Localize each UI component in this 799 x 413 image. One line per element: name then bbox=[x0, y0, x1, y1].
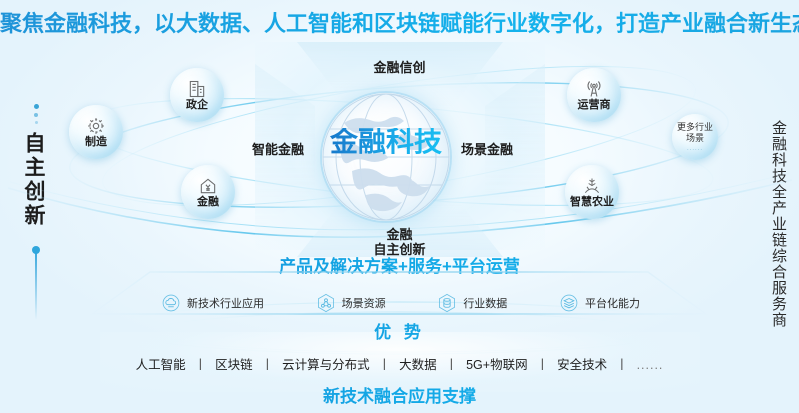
node-more-industry-scenarios[interactable]: 更多行业场景 ...... bbox=[672, 114, 718, 160]
signal-tower-icon bbox=[584, 79, 604, 99]
center-label-top: 金融信创 bbox=[0, 57, 799, 76]
node-label: 智慧农业 bbox=[570, 197, 614, 208]
node-label: 政企 bbox=[186, 100, 208, 111]
node-label: 运营商 bbox=[578, 100, 611, 111]
tech-ellipsis: ...... bbox=[637, 358, 664, 372]
tech-item-bigdata: 大数据 bbox=[399, 358, 437, 372]
capability-row: 新技术行业应用 场景资源 行业数据 bbox=[160, 288, 640, 318]
capability-item-new-tech[interactable]: 新技术行业应用 bbox=[160, 292, 264, 314]
cloud-icon bbox=[160, 292, 182, 314]
page-title: 聚焦金融科技，以大数据、人工智能和区块链赋能行业数字化，打造产业融合新生态 bbox=[0, 6, 799, 38]
infographic-canvas: 聚焦金融科技，以大数据、人工智能和区块链赋能行业数字化，打造产业融合新生态 自主… bbox=[0, 0, 799, 413]
capability-label: 新技术行业应用 bbox=[187, 295, 264, 311]
central-globe bbox=[322, 93, 450, 221]
center-label-left: 智能金融 bbox=[252, 139, 304, 158]
database-icon bbox=[436, 292, 458, 314]
tech-separator: 丨 bbox=[194, 358, 207, 372]
advantage-heading: 优 势 bbox=[0, 318, 799, 343]
capability-item-industry-data[interactable]: 行业数据 bbox=[436, 292, 507, 314]
tech-separator: 丨 bbox=[445, 358, 458, 372]
capability-item-scenario-resources[interactable]: 场景资源 bbox=[315, 292, 386, 314]
tech-item-security: 安全技术 bbox=[557, 358, 607, 372]
center-label-right: 场景金融 bbox=[461, 139, 513, 158]
capability-item-platform-capability[interactable]: 平台化能力 bbox=[558, 292, 640, 314]
tech-separator: 丨 bbox=[261, 358, 274, 372]
globe-title: 金融科技 bbox=[322, 128, 450, 156]
smart-agriculture-icon bbox=[582, 176, 602, 196]
node-manufacturing[interactable]: 制造 bbox=[69, 105, 123, 159]
tech-item-blockchain: 区块链 bbox=[215, 358, 253, 372]
tech-support-heading: 新技术融合应用支撑 bbox=[0, 382, 799, 407]
bank-yuan-icon bbox=[198, 176, 218, 196]
node-finance[interactable]: 金融 bbox=[181, 165, 235, 219]
tech-item-5g-iot: 5G+物联网 bbox=[466, 358, 527, 372]
node-label: 金融 bbox=[197, 197, 219, 208]
solution-highlight-bar: 产品及解决方案+服务+平台运营 bbox=[0, 252, 799, 277]
capability-label: 行业数据 bbox=[463, 295, 507, 311]
node-label: 制造 bbox=[85, 137, 107, 148]
globe-continents-icon bbox=[322, 93, 450, 221]
technology-list: 人工智能 丨 区块链 丨 云计算与分布式 丨 大数据 丨 5G+物联网 丨 安全… bbox=[0, 354, 799, 373]
layers-icon bbox=[558, 292, 580, 314]
capability-label: 场景资源 bbox=[342, 295, 386, 311]
node-ellipsis: ...... bbox=[687, 146, 703, 152]
gear-icon bbox=[86, 116, 106, 136]
tech-item-cloud: 云计算与分布式 bbox=[282, 358, 370, 372]
node-operator[interactable]: 运营商 bbox=[567, 68, 621, 122]
tech-item-ai: 人工智能 bbox=[136, 358, 186, 372]
building-icon bbox=[187, 79, 207, 99]
capability-label: 平台化能力 bbox=[585, 295, 640, 311]
node-network-icon bbox=[315, 292, 337, 314]
node-government-enterprise[interactable]: 政企 bbox=[170, 68, 224, 122]
node-label: 更多行业场景 bbox=[675, 122, 715, 144]
node-smart-agriculture[interactable]: 智慧农业 bbox=[565, 165, 619, 219]
tech-separator: 丨 bbox=[536, 358, 549, 372]
tech-separator: 丨 bbox=[378, 358, 391, 372]
tech-separator: 丨 bbox=[616, 358, 629, 372]
